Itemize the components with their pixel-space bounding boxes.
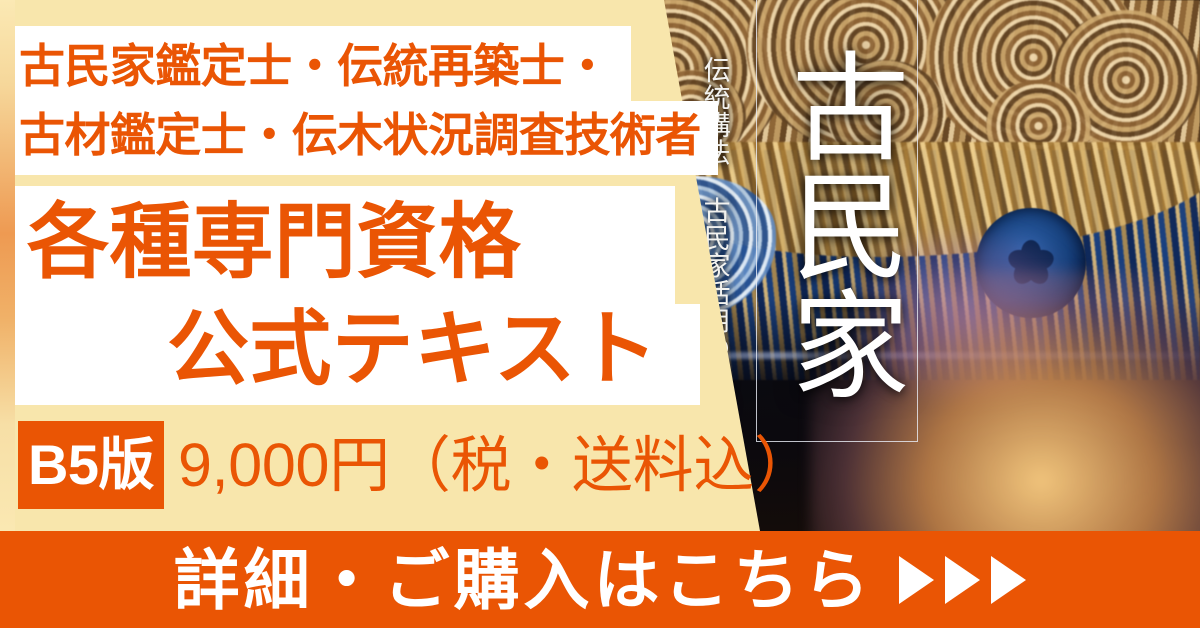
cta-bar[interactable]: 詳細・ご購入はこちら bbox=[0, 531, 1200, 628]
cta-arrows bbox=[899, 556, 1026, 604]
price-text: 9,000円（税・送料込） bbox=[178, 424, 815, 506]
cta-label: 詳細・ご購入はこちら bbox=[174, 547, 874, 613]
headline-line-2: 古材鑑定士・伝木状況調査技術者 bbox=[19, 101, 719, 170]
triangle-right-icon bbox=[899, 556, 934, 604]
main-title-text: 各種専門資格 公式テキスト bbox=[15, 190, 695, 403]
main-title-line-1: 各種専門資格 bbox=[15, 190, 695, 297]
format-badge-b5: B5版 bbox=[18, 421, 164, 509]
triangle-right-icon bbox=[945, 556, 980, 604]
promo-banner: 古民家 伝統構法 古民家活用のための調査と再生の 古民家鑑定士・伝統再築士・ 古… bbox=[0, 0, 1200, 628]
main-title-line-2: 公式テキスト bbox=[15, 297, 695, 404]
headline-text: 古民家鑑定士・伝統再築士・ 古材鑑定士・伝木状況調査技術者 bbox=[19, 32, 719, 170]
cover-title: 古民家 bbox=[764, 10, 910, 440]
left-gradient-strip bbox=[0, 0, 15, 531]
headline-line-1: 古民家鑑定士・伝統再築士・ bbox=[19, 32, 719, 101]
triangle-right-icon bbox=[991, 556, 1026, 604]
